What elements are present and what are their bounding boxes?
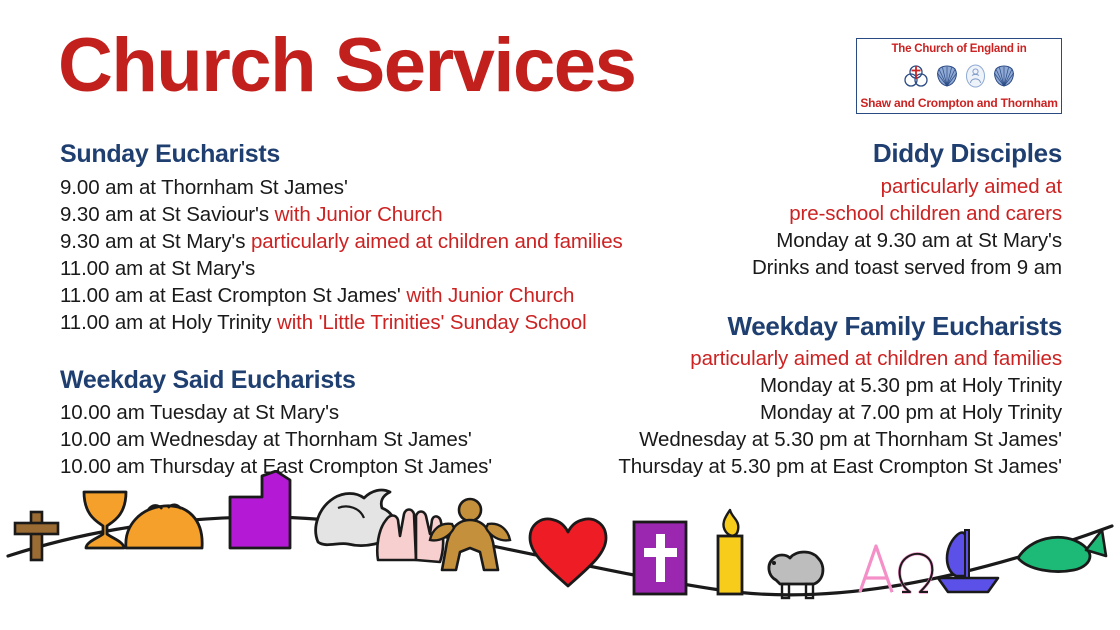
scallop-shell-emblem (992, 64, 1016, 88)
service-note: with Junior Church (275, 203, 443, 226)
service-note-line: particularly aimed at children and famil… (542, 345, 1062, 372)
service-line: Monday at 7.00 pm at Holy Trinity (542, 399, 1062, 426)
right-column: Diddy Disciples particularly aimed at pr… (542, 138, 1062, 480)
church-of-england-logo: The Church of England in (856, 38, 1062, 114)
service-main: 11.00 am at St Mary's (60, 257, 255, 280)
trinity-knot-cross-emblem (903, 63, 929, 89)
service-line: Drinks and toast served from 9 am (542, 254, 1062, 281)
candle-icon (718, 510, 742, 594)
oval-figure-emblem (965, 64, 986, 88)
service-note: with 'Little Trinities' Sunday School (277, 311, 587, 334)
service-main: 11.00 am at Holy Trinity (60, 311, 277, 334)
bible-icon (634, 522, 686, 594)
service-main: 10.00 am Wednesday at Thornham St James' (60, 428, 472, 451)
church-building-icon (230, 471, 290, 548)
service-main: 9.00 am at Thornham St James' (60, 176, 348, 199)
diddy-disciples-heading: Diddy Disciples (542, 138, 1062, 169)
service-main: 10.00 am Tuesday at St Mary's (60, 401, 339, 424)
fish-icon (1018, 530, 1106, 572)
bread-loaf-icon (126, 505, 202, 548)
logo-emblems (903, 61, 1016, 91)
service-line: Wednesday at 5.30 pm at Thornham St Jame… (542, 426, 1062, 453)
bottom-symbol-strip (0, 470, 1120, 630)
service-line: Monday at 5.30 pm at Holy Trinity (542, 372, 1062, 399)
weekday-family-eucharists-heading: Weekday Family Eucharists (542, 311, 1062, 342)
sheep-icon (769, 552, 823, 598)
logo-top-text: The Church of England in (891, 43, 1026, 55)
scallop-shell-emblem (935, 64, 959, 88)
service-line: Monday at 9.30 am at St Mary's (542, 227, 1062, 254)
section-spacer (542, 281, 1062, 311)
service-main: 11.00 am at East Crompton St James' (60, 284, 406, 307)
service-main: 9.30 am at St Saviour's (60, 203, 275, 226)
service-note-line: pre-school children and carers (542, 200, 1062, 227)
heart-icon (530, 519, 606, 586)
chalice-icon (84, 492, 126, 548)
service-note-line: particularly aimed at (542, 173, 1062, 200)
poster-canvas: Church Services The Church of England in (0, 0, 1120, 630)
logo-bottom-text: Shaw and Crompton and Thornham (860, 96, 1057, 110)
page-title: Church Services (58, 28, 635, 104)
service-main: 9.30 am at St Mary's (60, 230, 251, 253)
sailboat-icon (938, 530, 998, 592)
